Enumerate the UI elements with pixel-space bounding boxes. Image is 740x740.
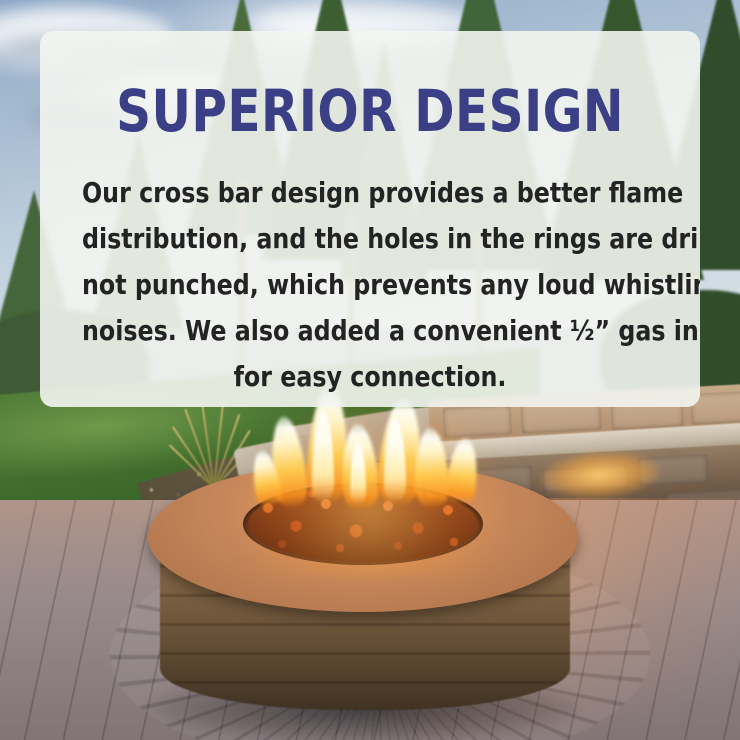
- body-line: for easy connection.: [82, 354, 658, 400]
- body-copy: Our cross bar design provides a better f…: [82, 140, 658, 400]
- body-line: Our cross bar design provides a better f…: [82, 170, 658, 216]
- text-overlay-card: SUPERIOR DESIGN Our cross bar design pro…: [40, 31, 700, 407]
- body-line: noises. We also added a convenient ½” ga…: [82, 308, 658, 354]
- body-line: not punched, which prevents any loud whi…: [82, 262, 658, 308]
- card-content: SUPERIOR DESIGN Our cross bar design pro…: [40, 31, 700, 407]
- body-line: distribution, and the holes in the rings…: [82, 216, 658, 262]
- page-title: SUPERIOR DESIGN: [116, 31, 624, 140]
- promo-graphic: SUPERIOR DESIGN Our cross bar design pro…: [0, 0, 740, 740]
